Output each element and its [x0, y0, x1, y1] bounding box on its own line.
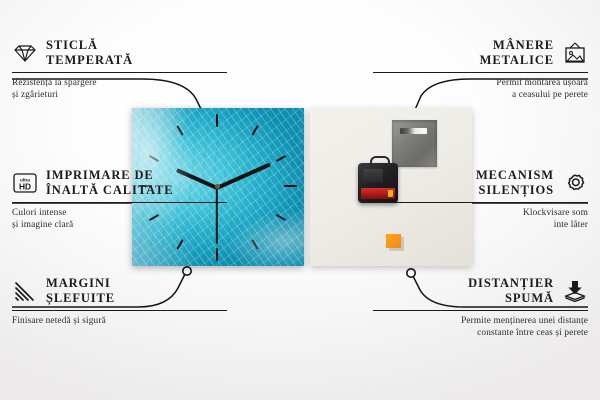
callout-title-2: SILENȚIOS [476, 183, 554, 198]
clock-tick [176, 239, 183, 250]
gear-icon [562, 172, 588, 194]
callout-sub-1: Permit montarea ușoară [373, 77, 588, 89]
callout-rule [373, 310, 588, 312]
ultra-hd-icon: ultra HD [12, 172, 38, 194]
callout-rule [373, 202, 588, 204]
clock-tick [149, 155, 160, 162]
callout-title: MARGINI [46, 276, 115, 291]
callout-title: IMPRIMARE DE [46, 168, 174, 183]
callout-silent-mechanism: MECANISM SILENȚIOS Klockvisare som inte … [373, 168, 588, 231]
callout-foam-spacer: DISTANȚIER SPUMĂ Permite menținerea unei… [373, 276, 588, 339]
callout-rule [373, 72, 588, 74]
clock-tick [251, 125, 258, 136]
clock-tick [284, 185, 297, 187]
callout-sub-2: și imagine clară [12, 219, 227, 231]
callout-rule [12, 72, 227, 74]
diamond-icon [12, 42, 38, 64]
callout-title-2: ȘLEFUITE [46, 291, 115, 306]
clock-tick [276, 214, 287, 221]
clock-tick [176, 125, 183, 136]
clock-tick [251, 239, 258, 250]
callout-sub-2: constante între ceas și perete [373, 327, 588, 339]
hanger-slot [400, 128, 427, 134]
clock-tick [276, 155, 287, 162]
callout-sub-1: Klockvisare som [373, 207, 588, 219]
callout-hd-print: ultra HD IMPRIMARE DE ÎNALTĂ CALITATE Cu… [12, 168, 227, 231]
clock-tick [216, 248, 218, 261]
bevel-edge-icon [12, 280, 38, 302]
callout-tempered-glass: STICLĂ TEMPERATĂ Rezistență la spargere … [12, 38, 227, 101]
callout-title: DISTANȚIER [468, 276, 554, 291]
infographic-stage: STICLĂ TEMPERATĂ Rezistență la spargere … [0, 0, 600, 400]
callout-title: MECANISM [476, 168, 554, 183]
hanging-frame-icon [562, 42, 588, 64]
callout-sub-1: Culori intense [12, 207, 227, 219]
metal-hanger-plate [392, 120, 437, 167]
callout-title-2: TEMPERATĂ [46, 53, 133, 68]
foam-spacer-icon [562, 280, 588, 302]
callout-sub-1: Rezistență la spargere [12, 77, 227, 89]
callout-title-2: ÎNALTĂ CALITATE [46, 183, 174, 198]
callout-sub-2: a ceasului pe perete [373, 89, 588, 101]
callout-polished-edges: MARGINI ȘLEFUITE Finisare netedă și sigu… [12, 276, 227, 327]
callout-title-2: SPUMĂ [468, 291, 554, 306]
callout-title: MÂNERE [480, 38, 554, 53]
callout-sub-1: Permite menținerea unei distanțe [373, 315, 588, 327]
leader-dot-3 [183, 267, 191, 275]
callout-metal-handles: MÂNERE METALICE Permit montarea ușoară a… [373, 38, 588, 101]
callout-rule [12, 202, 227, 204]
callout-sub-2: și zgârieturi [12, 89, 227, 101]
callout-title-2: METALICE [480, 53, 554, 68]
callout-title: STICLĂ [46, 38, 133, 53]
svg-text:HD: HD [19, 181, 31, 191]
callout-sub-1: Finisare netedă și sigură [12, 315, 227, 327]
foam-spacer-pad [386, 234, 401, 248]
callout-sub-2: inte låter [373, 219, 588, 231]
mechanism-hanging-loop [370, 156, 390, 167]
clock-tick [216, 114, 218, 127]
callout-rule [12, 310, 227, 312]
